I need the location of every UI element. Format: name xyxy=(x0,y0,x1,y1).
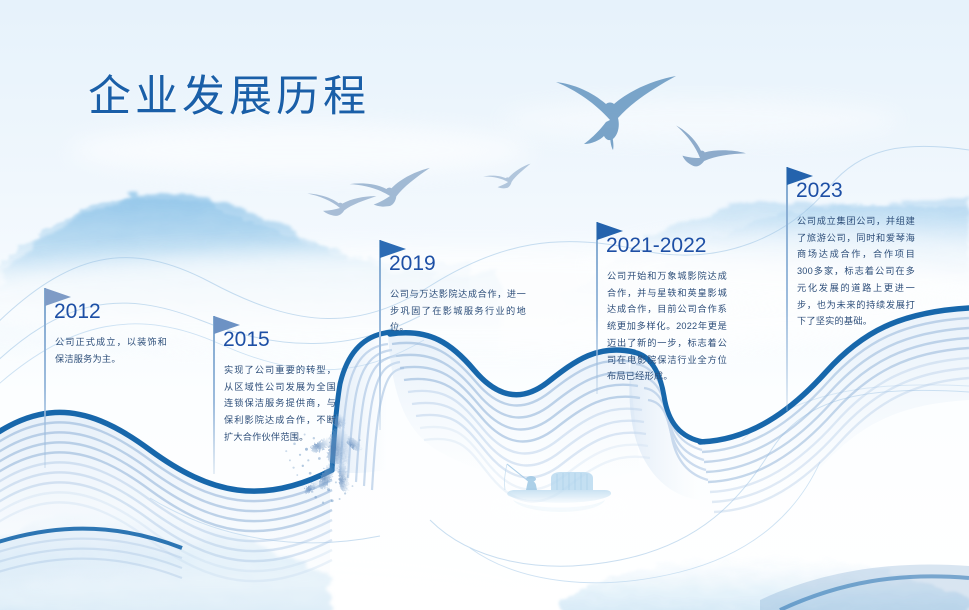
milestone-description: 实现了公司重要的转型，从区域性公司发展为全国连锁保洁服务提供商，与保利影院达成合… xyxy=(224,362,336,446)
ribbon-right-body xyxy=(700,308,969,512)
flag-pole xyxy=(786,167,788,411)
mountain-bottom-left xyxy=(0,508,330,610)
milestone-year: 2021-2022 xyxy=(606,235,706,256)
milestone-description: 公司与万达影院达成合作，进一步巩固了在影城服务行业的地位。 xyxy=(390,286,526,336)
milestone-year: 2023 xyxy=(796,180,843,201)
milestone-description: 公司开始和万象城影院达成合作，并与星轶和英皇影城达成合作，目前公司合作系统更加多… xyxy=(607,268,727,385)
ribbon-lower-fold xyxy=(0,529,182,610)
milestone-description: 公司正式成立，以装饰和保洁服务为主。 xyxy=(55,334,167,367)
milestone-year: 2015 xyxy=(223,329,270,350)
milestone-year: 2019 xyxy=(389,253,436,274)
bird-icon xyxy=(664,123,746,184)
ribbon-center-fold xyxy=(332,332,404,490)
bird-icon xyxy=(483,164,535,193)
timeline-infographic: 企业发展历程 2012 公司正式成立，以装饰和保洁服务为主。 2015 实现了公… xyxy=(0,0,969,610)
page-title: 企业发展历程 xyxy=(88,62,370,124)
flag-pole xyxy=(44,288,46,468)
bird-icon xyxy=(305,189,376,220)
milestone-year: 2012 xyxy=(54,301,101,322)
milestone-description: 公司成立集团公司，并组建了旅游公司，同时和爱琴海商场达成合作，合作项目300多家… xyxy=(797,213,915,330)
flag-pole xyxy=(213,316,215,474)
ribbon-bottom-right xyxy=(760,564,969,610)
flag-pole xyxy=(379,240,381,430)
bird-icon xyxy=(556,76,676,150)
flag-pole xyxy=(596,222,598,394)
bird-icon xyxy=(349,168,435,211)
